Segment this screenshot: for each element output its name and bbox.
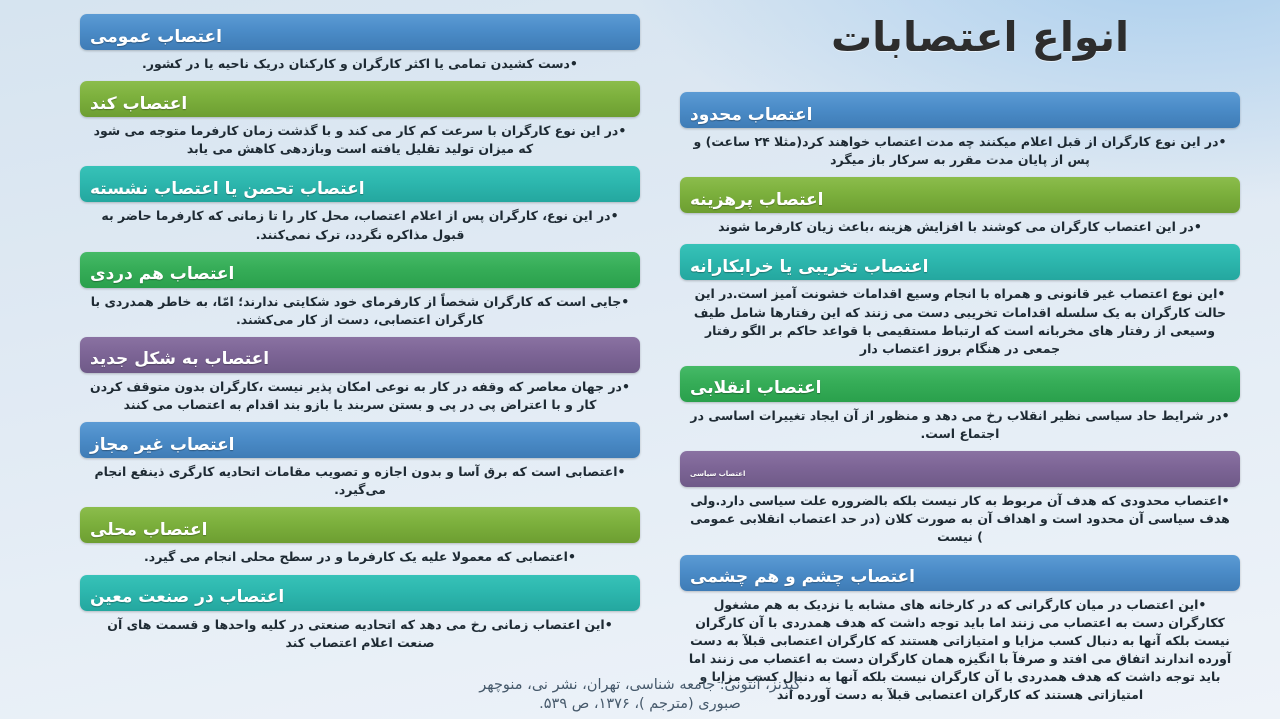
- strike-type-description: •اعتصاب محدودی که هدف آن مربوط به کار نی…: [680, 487, 1240, 552]
- strike-type-header-bar[interactable]: اعتصاب تخریبی یا خرابکارانه: [680, 244, 1240, 280]
- strike-type-title: اعتصاب محلی: [90, 522, 207, 539]
- strike-type-card: اعتصاب محلی•اعتصابی که معمولا علیه یک کا…: [80, 507, 640, 572]
- strike-type-title: اعتصاب انقلابی: [690, 380, 821, 397]
- footer-citation-line-2: صبوری (مترجم )، ۱۳۷۶، ص ۵۳۹.: [0, 695, 1280, 715]
- strike-type-card: اعتصاب تحصن یا اعتصاب نشسته•در این نوع، …: [80, 166, 640, 249]
- strike-type-title: اعتصاب سیاسی: [690, 471, 745, 478]
- strike-type-description: •در این نوع، کارگران پس از اعلام اعتصاب،…: [80, 202, 640, 249]
- strike-type-header-bar[interactable]: اعتصاب محدود: [680, 92, 1240, 128]
- strike-type-card: اعتصاب به شکل جدید•در جهان معاصر که وقفه…: [80, 337, 640, 420]
- strike-type-description: •در شرایط حاد سیاسی نظیر انقلاب رخ می ده…: [680, 402, 1240, 449]
- strike-type-title: اعتصاب در صنعت معین: [90, 589, 284, 606]
- footer-citation: گیدنز، آنتونی؛ جامعه شناسی، تهران، نشر ن…: [0, 676, 1280, 715]
- strike-type-description: •در این اعتصاب کارگران می کوشند با افزای…: [680, 213, 1240, 242]
- strike-type-card: اعتصاب غیر مجاز•اعتصابی است که برق آسا و…: [80, 422, 640, 505]
- strike-type-card: اعتصاب سیاسی•اعتصاب محدودی که هدف آن مرب…: [680, 451, 1240, 552]
- strike-type-card: اعتصاب انقلابی•در شرایط حاد سیاسی نظیر ا…: [680, 366, 1240, 449]
- strike-type-description: •دست کشیدن تمامی یا اکثر کارگران و کارکن…: [80, 50, 640, 79]
- strike-type-title: اعتصاب چشم و هم چشمی: [690, 569, 915, 586]
- footer-citation-line-1: گیدنز، آنتونی؛ جامعه شناسی، تهران، نشر ن…: [0, 676, 1280, 696]
- strike-type-description: •در این نوع کارگران با سرعت کم کار می کن…: [80, 117, 640, 164]
- strike-type-header-bar[interactable]: اعتصاب کند: [80, 81, 640, 117]
- strike-type-title: اعتصاب هم دردی: [90, 266, 234, 283]
- strike-type-header-bar[interactable]: اعتصاب پرهزینه: [680, 177, 1240, 213]
- strike-type-description: •این نوع اعتصاب غیر قانونی و همراه با ان…: [680, 280, 1240, 364]
- strike-type-title: اعتصاب عمومی: [90, 29, 222, 46]
- strike-type-card: اعتصاب عمومی•دست کشیدن تمامی یا اکثر کار…: [80, 14, 640, 79]
- strike-type-header-bar[interactable]: اعتصاب عمومی: [80, 14, 640, 50]
- right-column: اعتصاب محدود•در این نوع کارگران از قبل ا…: [680, 0, 1240, 712]
- slide-root: انواع اعتصابات اعتصاب عمومی•دست کشیدن تم…: [0, 0, 1280, 719]
- strike-type-description: •جایی است که کارگران شخصاً از کارفرمای خ…: [80, 288, 640, 335]
- strike-type-header-bar[interactable]: اعتصاب چشم و هم چشمی: [680, 555, 1240, 591]
- strike-type-title: اعتصاب محدود: [690, 107, 812, 124]
- strike-type-header-bar[interactable]: اعتصاب غیر مجاز: [80, 422, 640, 458]
- strike-type-description: •در جهان معاصر که وقفه در کار به نوعی ام…: [80, 373, 640, 420]
- strike-type-description: •این اعتصاب زمانی رخ می دهد که اتحادیه ص…: [80, 611, 640, 658]
- strike-type-title: اعتصاب غیر مجاز: [90, 437, 235, 454]
- strike-type-card: اعتصاب در صنعت معین•این اعتصاب زمانی رخ …: [80, 575, 640, 658]
- strike-type-card: اعتصاب محدود•در این نوع کارگران از قبل ا…: [680, 92, 1240, 175]
- strike-type-title: اعتصاب کند: [90, 96, 187, 113]
- left-column: اعتصاب عمومی•دست کشیدن تمامی یا اکثر کار…: [80, 0, 640, 660]
- strike-type-header-bar[interactable]: اعتصاب هم دردی: [80, 252, 640, 288]
- strike-type-card: اعتصاب پرهزینه•در این اعتصاب کارگران می …: [680, 177, 1240, 242]
- strike-type-header-bar[interactable]: اعتصاب به شکل جدید: [80, 337, 640, 373]
- strike-type-header-bar[interactable]: اعتصاب تحصن یا اعتصاب نشسته: [80, 166, 640, 202]
- strike-type-description: •اعتصابی که معمولا علیه یک کارفرما و در …: [80, 543, 640, 572]
- strike-type-title: اعتصاب تحصن یا اعتصاب نشسته: [90, 181, 365, 198]
- strike-type-card: اعتصاب هم دردی•جایی است که کارگران شخصاً…: [80, 252, 640, 335]
- strike-type-header-bar[interactable]: اعتصاب انقلابی: [680, 366, 1240, 402]
- strike-type-title: اعتصاب تخریبی یا خرابکارانه: [690, 259, 928, 276]
- strike-type-description: •اعتصابی است که برق آسا و بدون اجازه و ت…: [80, 458, 640, 505]
- strike-type-card: اعتصاب تخریبی یا خرابکارانه•این نوع اعتص…: [680, 244, 1240, 364]
- strike-type-description: •در این نوع کارگران از قبل اعلام میکنند …: [680, 128, 1240, 175]
- strike-type-header-bar[interactable]: اعتصاب محلی: [80, 507, 640, 543]
- strike-type-header-bar[interactable]: اعتصاب سیاسی: [680, 451, 1240, 487]
- strike-type-title: اعتصاب پرهزینه: [690, 192, 823, 209]
- strike-type-header-bar[interactable]: اعتصاب در صنعت معین: [80, 575, 640, 611]
- strike-type-title: اعتصاب به شکل جدید: [90, 351, 269, 368]
- strike-type-card: اعتصاب کند•در این نوع کارگران با سرعت کم…: [80, 81, 640, 164]
